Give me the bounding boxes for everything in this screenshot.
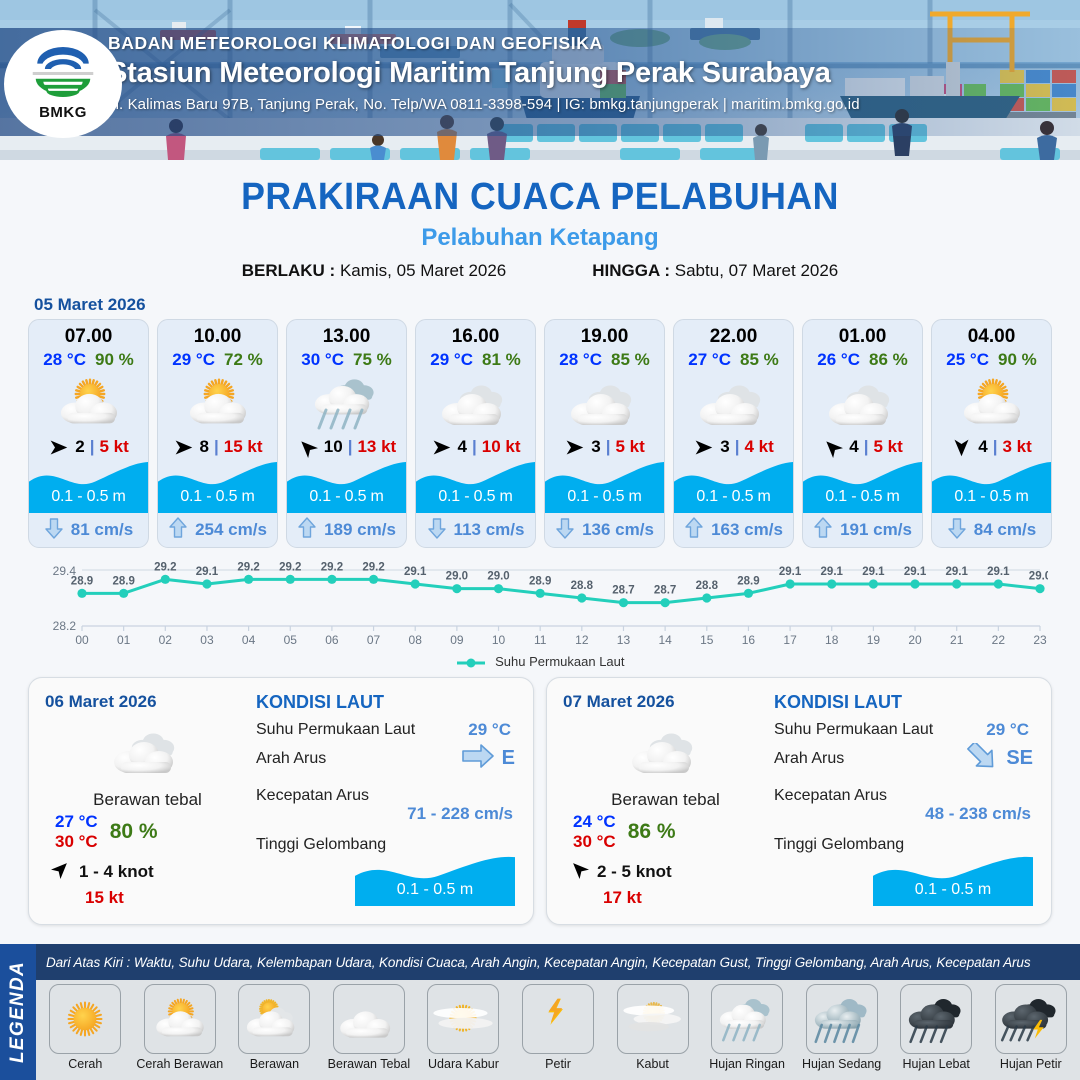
- svg-text:28.7: 28.7: [612, 585, 634, 597]
- current-direction-arrow-icon: [947, 516, 967, 545]
- weather-petir-icon: [522, 984, 594, 1054]
- card-wind-speed: 3: [591, 437, 600, 457]
- card-separator: |: [90, 437, 95, 457]
- legend-item: Cerah Berawan: [133, 984, 228, 1071]
- card-wave-block: 0.1 - 0.5 m: [29, 459, 148, 513]
- card-current-speed: 136 cm/s: [582, 520, 654, 540]
- card-wave-block: 0.1 - 0.5 m: [287, 459, 406, 513]
- sea-row-label: Arah Arus: [256, 750, 326, 768]
- svg-text:04: 04: [242, 633, 256, 647]
- valid-to-label: HINGGA :: [592, 261, 670, 280]
- weather-udara-kabur-icon: [427, 984, 499, 1054]
- svg-text:29.2: 29.2: [362, 561, 384, 573]
- card-wind-speed: 4: [978, 437, 987, 457]
- weather-berawan-tebal-icon: [803, 372, 922, 434]
- svg-text:29.2: 29.2: [154, 561, 176, 573]
- svg-text:29.1: 29.1: [862, 566, 885, 578]
- svg-text:29.1: 29.1: [904, 566, 927, 578]
- card-gust: 3 kt: [1002, 437, 1031, 457]
- card-temperature: 28 °C: [43, 350, 86, 370]
- svg-text:28.9: 28.9: [737, 575, 759, 587]
- card-wind-speed: 3: [720, 437, 729, 457]
- svg-text:23: 23: [1033, 633, 1047, 647]
- svg-text:02: 02: [159, 633, 173, 647]
- panel-wave-block: 0.1 - 0.5 m: [355, 854, 515, 906]
- forecast-card: 16.00 29 °C 81 %: [415, 319, 536, 548]
- card-wave-block: 0.1 - 0.5 m: [932, 459, 1051, 513]
- svg-text:10: 10: [492, 633, 506, 647]
- card-current-speed: 191 cm/s: [840, 520, 912, 540]
- card-time: 07.00: [65, 326, 113, 348]
- card-gust: 4 kt: [744, 437, 773, 457]
- panel-condition: Berawan tebal: [563, 790, 768, 810]
- weather-hujan-ringan-icon: [711, 984, 783, 1054]
- weather-berawan-tebal-icon: [674, 372, 793, 434]
- svg-text:07: 07: [367, 633, 381, 647]
- bmkg-logo-text: BMKG: [39, 104, 87, 121]
- svg-text:16: 16: [742, 633, 756, 647]
- daily-summary-panels: 06 Maret 2026 Berawan tebal 27 °C: [0, 669, 1080, 925]
- valid-from-value: Kamis, 05 Maret 2026: [340, 261, 506, 280]
- panel-date: 06 Maret 2026: [45, 692, 250, 712]
- card-wave-height: 0.1 - 0.5 m: [545, 488, 664, 506]
- panel-gust: 17 kt: [563, 888, 768, 908]
- card-wave-block: 0.1 - 0.5 m: [545, 459, 664, 513]
- valid-from: BERLAKU : Kamis, 05 Maret 2026: [242, 261, 507, 281]
- sea-row-label: Suhu Permukaan Laut: [256, 721, 415, 739]
- header-station-name: Stasiun Meteorologi Maritim Tanjung Pera…: [108, 57, 1068, 90]
- svg-text:06: 06: [325, 633, 339, 647]
- port-name: Pelabuhan Ketapang: [0, 224, 1080, 252]
- legend-item-caption: Berawan: [250, 1057, 299, 1071]
- svg-text:22: 22: [992, 633, 1006, 647]
- card-gust: 5 kt: [873, 437, 902, 457]
- svg-text:00: 00: [75, 633, 89, 647]
- card-wave-height: 0.1 - 0.5 m: [287, 488, 406, 506]
- legend-item-caption: Kabut: [636, 1057, 669, 1071]
- sea-surface-temperature: 29 °C: [986, 720, 1029, 740]
- svg-text:29.1: 29.1: [196, 566, 219, 578]
- legend-item: Hujan Lebat: [889, 984, 984, 1071]
- panel-condition: Berawan tebal: [45, 790, 250, 810]
- card-gust: 13 kt: [357, 437, 396, 457]
- header-contact-info: Jl. Kalimas Baru 97B, Tanjung Perak, No.…: [108, 96, 1068, 113]
- forecast-card: 13.00 30 °C 75 %: [286, 319, 407, 548]
- legend-icon-row: Cerah Cerah Berawan: [36, 980, 1080, 1080]
- svg-text:28.9: 28.9: [112, 575, 134, 587]
- legend-item: Kabut: [605, 984, 700, 1071]
- legend-item: Petir: [511, 984, 606, 1071]
- card-wave-block: 0.1 - 0.5 m: [158, 459, 277, 513]
- sea-row-label: Tinggi Gelombang: [774, 836, 904, 854]
- chart-legend: Suhu Permukaan Laut: [0, 654, 1080, 669]
- svg-text:29.1: 29.1: [987, 566, 1010, 578]
- card-separator: |: [993, 437, 998, 457]
- current-direction-arrow-icon: [297, 516, 317, 545]
- weather-hujan-petir-icon: [995, 984, 1067, 1054]
- wind-direction-arrow-icon: [569, 859, 589, 884]
- card-wind-speed: 4: [458, 437, 467, 457]
- bmkg-logo: BMKG: [4, 30, 122, 138]
- sea-condition-title: KONDISI LAUT: [774, 692, 1035, 713]
- weather-cerah-icon: [49, 984, 121, 1054]
- bmkg-logo-mark: [25, 47, 101, 103]
- weather-berawan-icon: [238, 984, 310, 1054]
- current-direction-arrow-icon: [44, 516, 64, 545]
- wind-direction-arrow-icon: [297, 437, 319, 457]
- weather-berawan-tebal-icon: [563, 720, 768, 782]
- sea-condition-title: KONDISI LAUT: [256, 692, 517, 713]
- panel-wave-block: 0.1 - 0.5 m: [873, 854, 1033, 906]
- chart-legend-label: Suhu Permukaan Laut: [495, 654, 624, 669]
- sea-row-label: Kecepatan Arus: [256, 787, 369, 805]
- card-humidity: 85 %: [611, 350, 650, 370]
- card-gust: 5 kt: [99, 437, 128, 457]
- card-humidity: 90 %: [998, 350, 1037, 370]
- legend-item: Cerah: [38, 984, 133, 1071]
- weather-berawan-tebal-icon: [545, 372, 664, 434]
- card-wave-height: 0.1 - 0.5 m: [674, 488, 793, 506]
- svg-text:19: 19: [867, 633, 881, 647]
- card-humidity: 86 %: [869, 350, 908, 370]
- legend-item: Berawan Tebal: [322, 984, 417, 1071]
- svg-text:29.2: 29.2: [279, 561, 301, 573]
- card-wind-speed: 8: [200, 437, 209, 457]
- legend-item-caption: Hujan Ringan: [709, 1057, 785, 1071]
- forecast-card: 01.00 26 °C 86 %: [802, 319, 923, 548]
- card-time: 01.00: [839, 326, 887, 348]
- sea-row-label: Kecepatan Arus: [774, 787, 887, 805]
- svg-text:03: 03: [200, 633, 214, 647]
- svg-text:18: 18: [825, 633, 839, 647]
- current-direction-value: E: [502, 747, 515, 770]
- wind-direction-arrow-icon: [431, 437, 453, 457]
- valid-to-value: Sabtu, 07 Maret 2026: [675, 261, 839, 280]
- svg-text:13: 13: [617, 633, 631, 647]
- legend-item-caption: Cerah: [68, 1057, 102, 1071]
- panel-humidity: 86 %: [628, 820, 676, 844]
- svg-text:29.1: 29.1: [946, 566, 969, 578]
- panel-wave-height: 0.1 - 0.5 m: [873, 881, 1033, 899]
- card-temperature: 25 °C: [946, 350, 989, 370]
- card-separator: |: [348, 437, 353, 457]
- current-direction-arrow-icon: [684, 516, 704, 545]
- title-block: PRAKIRAAN CUACA PELABUHAN Pelabuhan Keta…: [0, 176, 1080, 281]
- card-current-speed: 163 cm/s: [711, 520, 783, 540]
- card-temperature: 30 °C: [301, 350, 344, 370]
- svg-text:12: 12: [575, 633, 589, 647]
- panel-temp-min: 27 °C: [55, 812, 98, 832]
- legend-item: Hujan Sedang: [794, 984, 889, 1071]
- current-direction-arrow-icon: [168, 516, 188, 545]
- weather-hujan-ringan-icon: [287, 372, 406, 434]
- card-humidity: 81 %: [482, 350, 521, 370]
- card-time: 10.00: [194, 326, 242, 348]
- wind-direction-arrow-icon: [822, 437, 844, 457]
- svg-text:05: 05: [284, 633, 298, 647]
- current-direction-arrow-icon: [965, 743, 999, 774]
- card-separator: |: [606, 437, 611, 457]
- legend-side-title-text: LEGENDA: [7, 961, 29, 1063]
- svg-text:29.1: 29.1: [404, 566, 427, 578]
- svg-text:29.2: 29.2: [321, 561, 343, 573]
- forecast-card: 10.00 29 °C 72 % 8 | 15 kt: [157, 319, 278, 548]
- legend-item-caption: Hujan Petir: [1000, 1057, 1062, 1071]
- weather-berawan-tebal-icon: [45, 720, 250, 782]
- svg-text:29.2: 29.2: [237, 561, 259, 573]
- card-time: 13.00: [323, 326, 371, 348]
- card-wave-height: 0.1 - 0.5 m: [932, 488, 1051, 506]
- svg-text:08: 08: [409, 633, 423, 647]
- legend-side-title: LEGENDA: [0, 944, 36, 1080]
- wind-direction-arrow-icon: [173, 437, 195, 457]
- svg-text:28.9: 28.9: [529, 575, 551, 587]
- card-temperature: 26 °C: [817, 350, 860, 370]
- current-direction-arrow-icon: [427, 516, 447, 545]
- svg-text:28.8: 28.8: [696, 580, 719, 592]
- card-humidity: 85 %: [740, 350, 779, 370]
- weather-hujan-sedang-icon: [806, 984, 878, 1054]
- card-wave-height: 0.1 - 0.5 m: [158, 488, 277, 506]
- svg-text:11: 11: [534, 633, 547, 647]
- card-temperature: 29 °C: [430, 350, 473, 370]
- card-gust: 15 kt: [224, 437, 263, 457]
- forecast-card: 19.00 28 °C 85 %: [544, 319, 665, 548]
- panel-temp-max: 30 °C: [573, 832, 616, 852]
- wind-direction-arrow-icon: [48, 437, 70, 457]
- svg-text:29.0: 29.0: [446, 571, 468, 583]
- svg-text:29.1: 29.1: [779, 566, 802, 578]
- svg-text:28.7: 28.7: [654, 585, 676, 597]
- weather-cerah-berawan-icon: [144, 984, 216, 1054]
- day-summary-panel: 06 Maret 2026 Berawan tebal 27 °C: [28, 677, 534, 925]
- sst-chart-svg: 29.428.200010203040506070809101112131415…: [32, 558, 1048, 650]
- card-wind-speed: 2: [75, 437, 84, 457]
- panel-temp-min: 24 °C: [573, 812, 616, 832]
- forecast-card: 22.00 27 °C 85 %: [673, 319, 794, 548]
- wind-direction-arrow-icon: [564, 437, 586, 457]
- legend-item-caption: Udara Kabur: [428, 1057, 499, 1071]
- current-direction-value: SE: [1006, 747, 1033, 770]
- sea-row-label: Tinggi Gelombang: [256, 836, 386, 854]
- forecast-card: 07.00 28 °C 90 % 2 | 5 kt: [28, 319, 149, 548]
- validity-row: BERLAKU : Kamis, 05 Maret 2026 HINGGA : …: [0, 261, 1080, 281]
- legend-item-caption: Petir: [545, 1057, 571, 1071]
- sst-chart: 29.428.200010203040506070809101112131415…: [32, 558, 1048, 650]
- panel-temp-max: 30 °C: [55, 832, 98, 852]
- valid-to: HINGGA : Sabtu, 07 Maret 2026: [592, 261, 838, 281]
- svg-text:09: 09: [450, 633, 464, 647]
- wind-direction-arrow-icon: [693, 437, 715, 457]
- legend-item: Hujan Ringan: [700, 984, 795, 1071]
- legend-item-caption: Hujan Sedang: [802, 1057, 881, 1071]
- svg-text:29.0: 29.0: [1029, 571, 1048, 583]
- wind-direction-arrow-icon: [951, 437, 973, 457]
- current-direction-arrow-icon: [813, 516, 833, 545]
- legend-item: Hujan Petir: [983, 984, 1078, 1071]
- card-time: 19.00: [581, 326, 629, 348]
- svg-text:15: 15: [700, 633, 714, 647]
- wind-direction-arrow-icon: [51, 859, 71, 884]
- sea-row-label: Arah Arus: [774, 750, 844, 768]
- svg-text:20: 20: [908, 633, 922, 647]
- card-temperature: 29 °C: [172, 350, 215, 370]
- card-humidity: 72 %: [224, 350, 263, 370]
- weather-cerah-berawan-icon: [158, 372, 277, 434]
- forecast-card: 04.00 25 °C 90 % 4 | 3 kt: [931, 319, 1052, 548]
- legend-bar: LEGENDA Dari Atas Kiri : Waktu, Suhu Uda…: [0, 944, 1080, 1080]
- card-temperature: 27 °C: [688, 350, 731, 370]
- card-current-speed: 113 cm/s: [454, 520, 525, 540]
- card-time: 04.00: [968, 326, 1016, 348]
- card-wave-height: 0.1 - 0.5 m: [416, 488, 535, 506]
- card-wave-height: 0.1 - 0.5 m: [803, 488, 922, 506]
- legend-note: Dari Atas Kiri : Waktu, Suhu Udara, Kele…: [36, 944, 1080, 980]
- weather-cerah-berawan-icon: [932, 372, 1051, 434]
- card-wave-block: 0.1 - 0.5 m: [416, 459, 535, 513]
- card-wind-speed: 4: [849, 437, 858, 457]
- legend-item-caption: Cerah Berawan: [136, 1057, 223, 1071]
- panel-wind-range: 2 - 5 knot: [597, 862, 672, 882]
- svg-text:14: 14: [658, 633, 672, 647]
- card-gust: 10 kt: [482, 437, 521, 457]
- legend-item-caption: Hujan Lebat: [902, 1057, 969, 1071]
- card-wave-block: 0.1 - 0.5 m: [674, 459, 793, 513]
- weather-berawan-tebal-icon: [333, 984, 405, 1054]
- forecast-date-label: 05 Maret 2026: [34, 295, 1080, 315]
- svg-text:21: 21: [950, 633, 964, 647]
- card-separator: |: [214, 437, 219, 457]
- chart-legend-marker-icon: [456, 657, 486, 669]
- weather-berawan-tebal-icon: [416, 372, 535, 434]
- current-direction-arrow-icon: [461, 743, 495, 774]
- card-wave-block: 0.1 - 0.5 m: [803, 459, 922, 513]
- svg-text:29.1: 29.1: [821, 566, 844, 578]
- panel-wave-height: 0.1 - 0.5 m: [355, 881, 515, 899]
- card-separator: |: [864, 437, 869, 457]
- weather-hujan-lebat-icon: [900, 984, 972, 1054]
- card-current-speed: 84 cm/s: [974, 520, 1036, 540]
- card-humidity: 75 %: [353, 350, 392, 370]
- sea-row-label: Suhu Permukaan Laut: [774, 721, 933, 739]
- card-wind-speed: 10: [324, 437, 343, 457]
- page-title: PRAKIRAAN CUACA PELABUHAN: [32, 176, 1047, 219]
- card-current-speed: 254 cm/s: [195, 520, 267, 540]
- hourly-forecast-strip: 07.00 28 °C 90 % 2 | 5 kt: [0, 319, 1080, 548]
- card-separator: |: [735, 437, 740, 457]
- svg-text:28.8: 28.8: [571, 580, 594, 592]
- page-header: BMKG BADAN METEOROLOGI KLIMATOLOGI DAN G…: [0, 0, 1080, 160]
- card-temperature: 28 °C: [559, 350, 602, 370]
- sea-surface-temperature: 29 °C: [468, 720, 511, 740]
- panel-wind-range: 1 - 4 knot: [79, 862, 154, 882]
- panel-humidity: 80 %: [110, 820, 158, 844]
- legend-item-caption: Berawan Tebal: [328, 1057, 410, 1071]
- card-separator: |: [472, 437, 477, 457]
- svg-text:29.0: 29.0: [487, 571, 509, 583]
- legend-item: Berawan: [227, 984, 322, 1071]
- svg-text:28.2: 28.2: [53, 619, 77, 633]
- card-time: 16.00: [452, 326, 500, 348]
- weather-cerah-berawan-icon: [29, 372, 148, 434]
- svg-text:28.9: 28.9: [71, 575, 93, 587]
- card-humidity: 90 %: [95, 350, 134, 370]
- svg-text:01: 01: [117, 633, 131, 647]
- card-time: 22.00: [710, 326, 758, 348]
- card-wave-height: 0.1 - 0.5 m: [29, 488, 148, 506]
- valid-from-label: BERLAKU :: [242, 261, 336, 280]
- legend-item: Udara Kabur: [416, 984, 511, 1071]
- panel-date: 07 Maret 2026: [563, 692, 768, 712]
- panel-gust: 15 kt: [45, 888, 250, 908]
- card-current-speed: 189 cm/s: [324, 520, 396, 540]
- header-organization: BADAN METEOROLOGI KLIMATOLOGI DAN GEOFIS…: [108, 33, 1068, 54]
- current-direction-arrow-icon: [555, 516, 575, 545]
- svg-text:17: 17: [783, 633, 797, 647]
- card-current-speed: 81 cm/s: [71, 520, 133, 540]
- card-gust: 5 kt: [615, 437, 644, 457]
- weather-kabut-icon: [617, 984, 689, 1054]
- day-summary-panel: 07 Maret 2026 Berawan tebal 24 °C: [546, 677, 1052, 925]
